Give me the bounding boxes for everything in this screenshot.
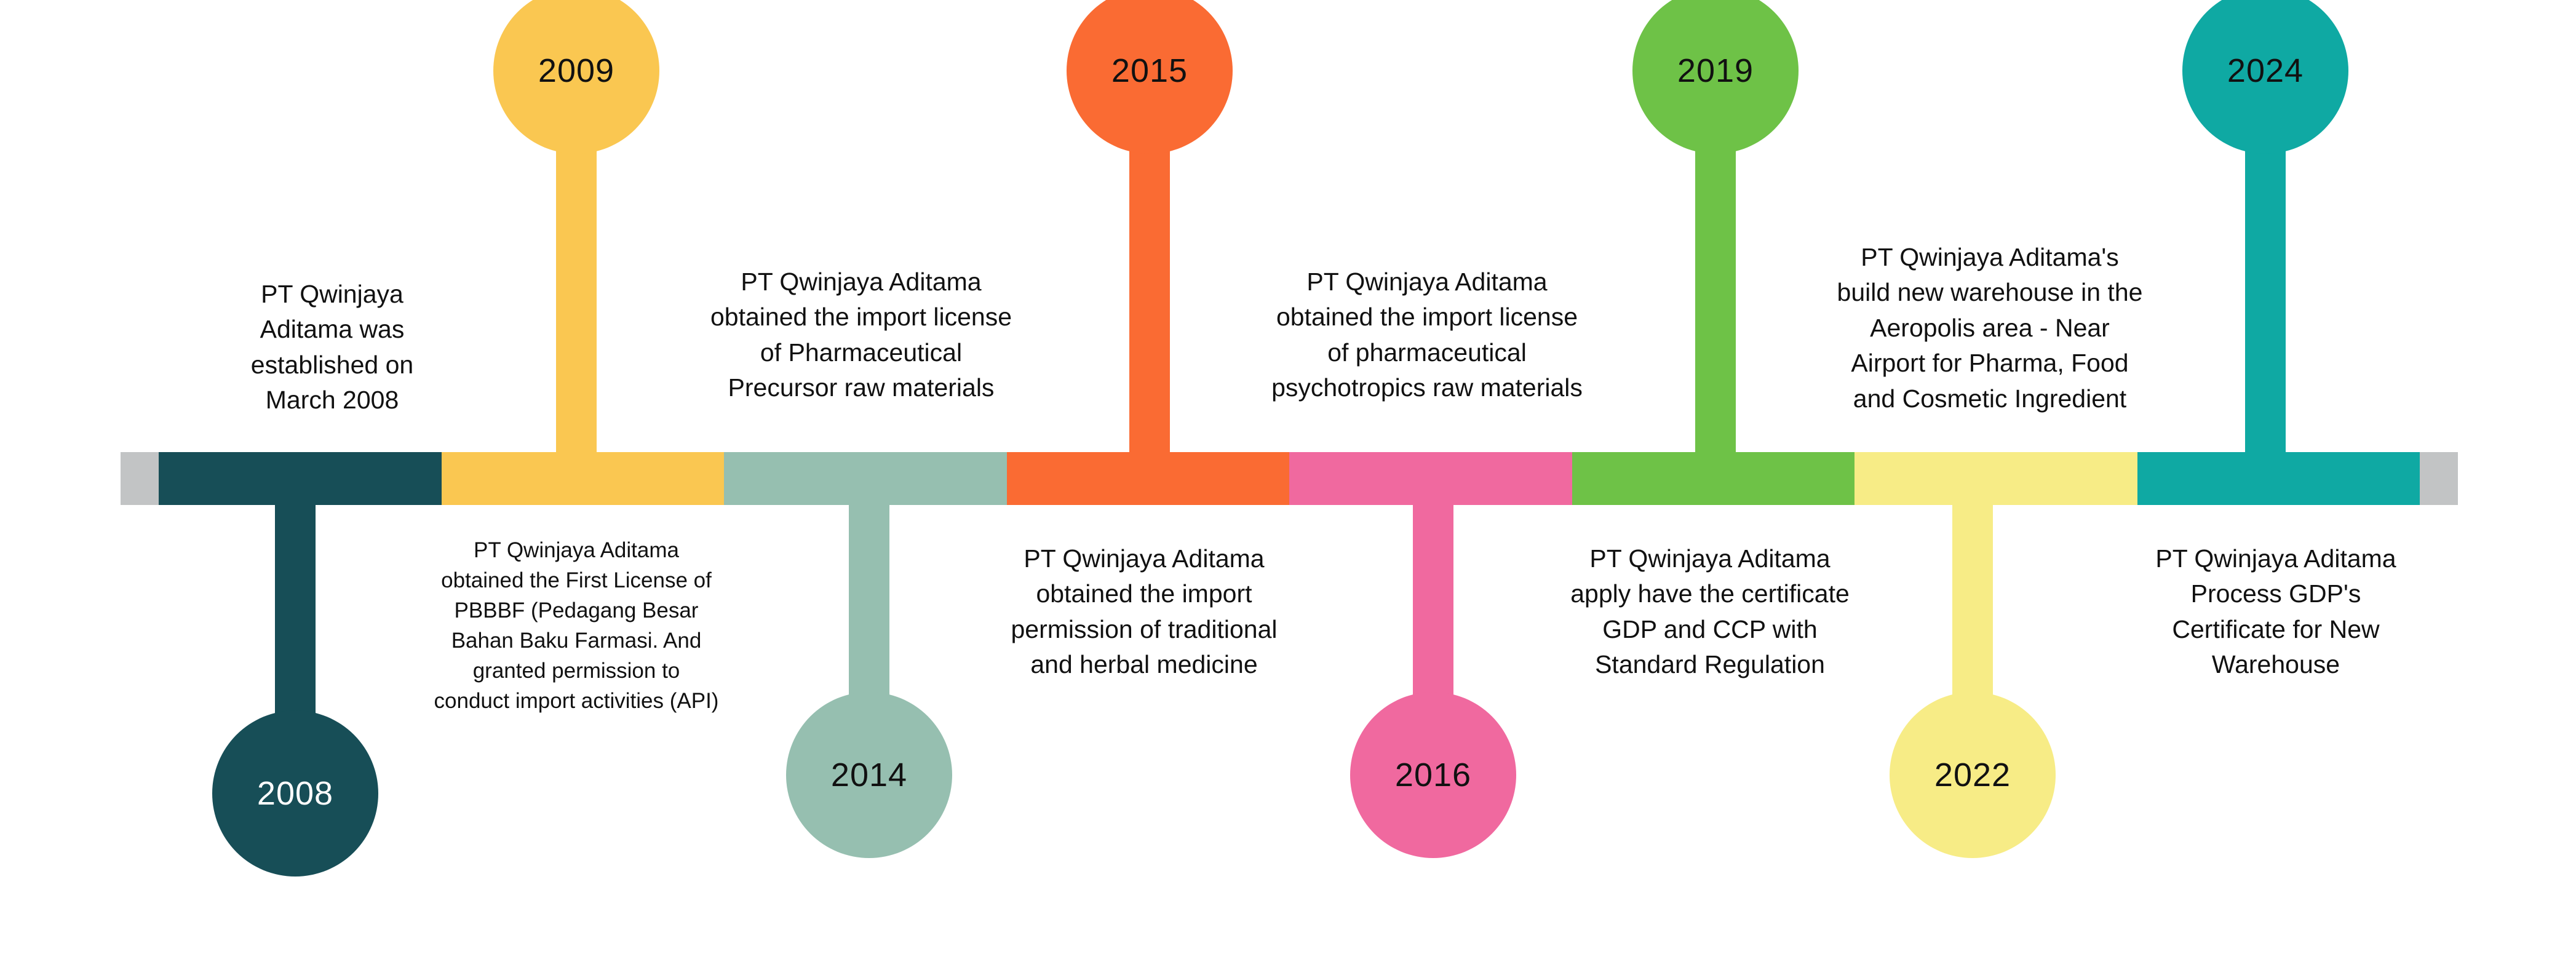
milestone-node-2019[interactable]: 2019 <box>1632 0 1799 154</box>
stem-2019 <box>1695 148 1736 467</box>
stem-2009 <box>556 148 597 467</box>
timeline-bar-cap-left <box>121 452 159 505</box>
note-line: conduct import activities (API) <box>352 686 801 716</box>
milestone-note-2024: PT Qwinjaya Aditama Process GDP's Certif… <box>2048 541 2503 683</box>
milestone-year-2019: 2019 <box>1677 54 1754 87</box>
note-line: PT Qwinjaya Aditama <box>916 541 1372 576</box>
milestone-note-2016: PT Qwinjaya Aditama obtained the import … <box>1193 264 1661 406</box>
milestone-note-2015: PT Qwinjaya Aditama obtained the import … <box>916 541 1372 683</box>
milestone-node-2009[interactable]: 2009 <box>493 0 659 154</box>
milestone-note-2019: PT Qwinjaya Aditama apply have the certi… <box>1482 541 1938 683</box>
note-line: and herbal medicine <box>916 647 1372 682</box>
milestone-node-2015[interactable]: 2015 <box>1067 0 1233 154</box>
note-line: obtained the import license <box>1193 300 1661 335</box>
note-line: PT Qwinjaya Aditama <box>2048 541 2503 576</box>
note-line: PT Qwinjaya Aditama <box>1482 541 1938 576</box>
timeline-bar-cap-right <box>2420 452 2458 505</box>
stem-2015 <box>1129 148 1170 467</box>
stem-2024 <box>2245 148 2286 467</box>
milestone-node-2016[interactable]: 2016 <box>1350 692 1516 858</box>
timeline-infographic: 2008 2009 2014 2015 2016 2019 2022 2024 … <box>0 0 2576 978</box>
milestone-node-2008[interactable]: 2008 <box>212 710 378 877</box>
milestone-year-2015: 2015 <box>1111 54 1188 87</box>
note-line: Certificate for New <box>2048 612 2503 647</box>
milestone-year-2014: 2014 <box>831 758 907 792</box>
note-line: Standard Regulation <box>1482 647 1938 682</box>
note-line: established on <box>203 348 461 383</box>
note-line: of Pharmaceutical <box>627 335 1095 370</box>
timeline-bar <box>121 452 2458 505</box>
note-line: build new warehouse in the <box>1750 275 2230 310</box>
milestone-note-2022: PT Qwinjaya Aditama's build new warehous… <box>1750 240 2230 416</box>
note-line: obtained the import license <box>627 300 1095 335</box>
note-line: Warehouse <box>2048 647 2503 682</box>
note-line: Aditama was <box>203 312 461 347</box>
note-line: PT Qwinjaya Aditama <box>627 264 1095 300</box>
timeline-segment-2022[interactable] <box>1854 452 2137 505</box>
milestone-note-2009: PT Qwinjaya Aditama obtained the First L… <box>352 535 801 716</box>
note-line: apply have the certificate <box>1482 576 1938 611</box>
milestone-year-2024: 2024 <box>2227 54 2304 87</box>
note-line: March 2008 <box>203 383 461 418</box>
note-line: PT Qwinjaya Aditama <box>1193 264 1661 300</box>
note-line: PT Qwinjaya Aditama's <box>1750 240 2230 275</box>
note-line: Bahan Baku Farmasi. And <box>352 626 801 656</box>
milestone-node-2022[interactable]: 2022 <box>1890 692 2056 858</box>
milestone-note-2014: PT Qwinjaya Aditama obtained the import … <box>627 264 1095 406</box>
note-line: Aeropolis area - Near <box>1750 311 2230 346</box>
note-line: Precursor raw materials <box>627 370 1095 405</box>
note-line: of pharmaceutical <box>1193 335 1661 370</box>
note-line: psychotropics raw materials <box>1193 370 1661 405</box>
note-line: granted permission to <box>352 656 801 686</box>
note-line: and Cosmetic Ingredient <box>1750 381 2230 416</box>
note-line: Airport for Pharma, Food <box>1750 346 2230 381</box>
note-line: GDP and CCP with <box>1482 612 1938 647</box>
milestone-node-2014[interactable]: 2014 <box>786 692 952 858</box>
note-line: PT Qwinjaya Aditama <box>352 535 801 565</box>
note-line: PT Qwinjaya <box>203 277 461 312</box>
milestone-year-2008: 2008 <box>257 777 333 810</box>
milestone-node-2024[interactable]: 2024 <box>2182 0 2348 154</box>
note-line: Process GDP's <box>2048 576 2503 611</box>
milestone-year-2016: 2016 <box>1395 758 1471 792</box>
milestone-year-2009: 2009 <box>538 54 614 87</box>
note-line: obtained the import <box>916 576 1372 611</box>
milestone-note-2008: PT Qwinjaya Aditama was established on M… <box>203 277 461 418</box>
note-line: permission of traditional <box>916 612 1372 647</box>
note-line: obtained the First License of <box>352 565 801 595</box>
milestone-year-2022: 2022 <box>1934 758 2011 792</box>
note-line: PBBBF (Pedagang Besar <box>352 595 801 626</box>
